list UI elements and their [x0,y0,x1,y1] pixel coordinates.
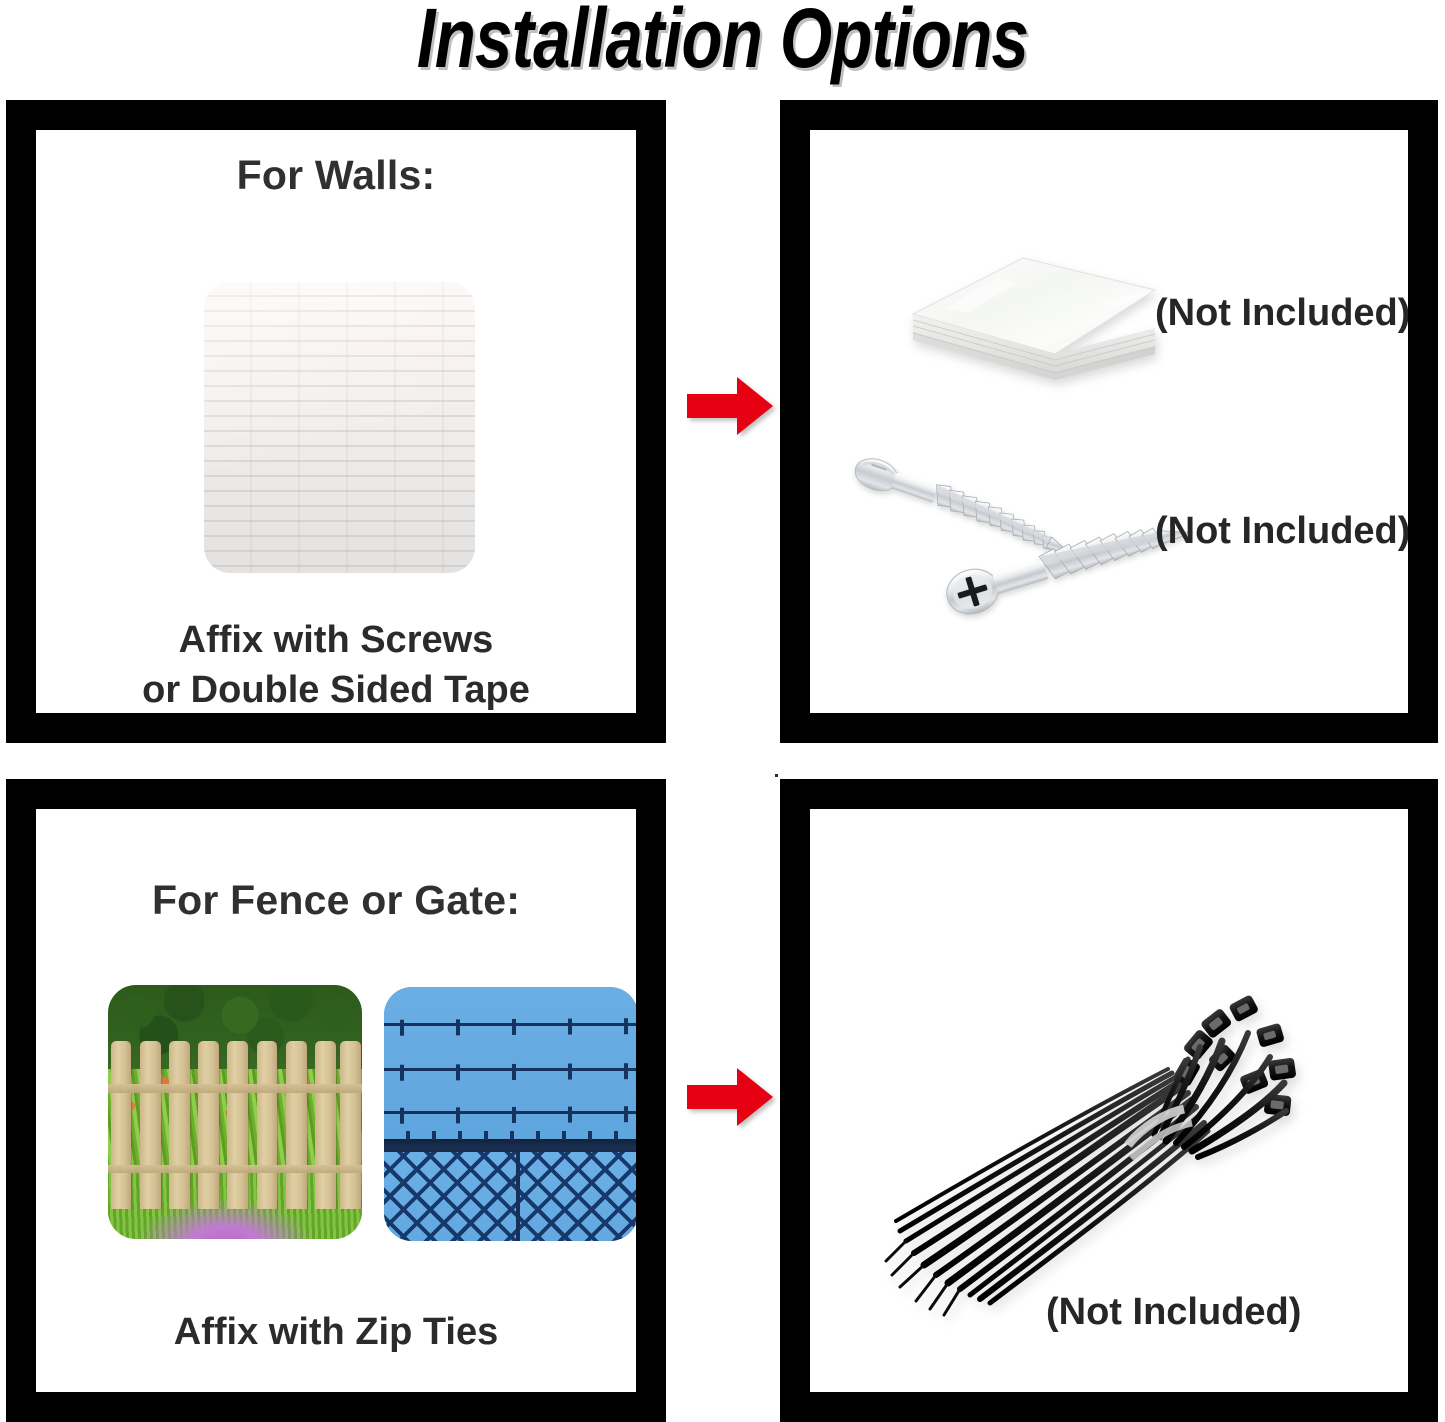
panel-fence-hardware-content: (Not Included) [810,809,1408,1392]
brick-wall-swatch-image [204,282,475,573]
panel-fence-hardware: (Not Included) [780,779,1438,1422]
double-sided-tape-stack-image [905,250,1159,412]
zip-ties-bundle-image [866,935,1326,1325]
barbed-wire-strand-1 [384,1023,636,1026]
swatch-highlight [204,282,475,573]
barbed-wire-strand-2 [384,1068,636,1071]
fence-post [516,1152,520,1241]
chain-link-fence-thumbnail [384,987,636,1241]
right-arrow-icon-top [687,377,773,435]
wooden-picket-fence-thumbnail [108,985,362,1239]
barbed-wire-strand-3 [384,1111,636,1114]
page-title: Installation Options [145,0,1301,82]
chain-fence-scene [384,987,636,1241]
panel-for-walls: For Walls: Affix with Screws or Double S… [6,100,666,743]
panel-wall-hardware: (Not Included) [780,100,1438,743]
panel-wall-hardware-content: (Not Included) [810,130,1408,713]
tape-not-included-label: (Not Included) [1155,292,1408,335]
right-arrow-icon-bottom [687,1068,773,1126]
zipties-not-included-label: (Not Included) [1046,1291,1301,1334]
panel-for-walls-content: For Walls: Affix with Screws or Double S… [36,130,636,713]
walls-caption-line-1: Affix with Screws [36,617,636,665]
for-fence-heading: For Fence or Gate: [36,877,636,924]
wood-fence-scene [108,985,362,1239]
screws-not-included-label: (Not Included) [1155,510,1408,553]
panel-for-fence-content: For Fence or Gate: [36,809,636,1392]
for-walls-heading: For Walls: [36,152,636,199]
picket-boards [108,1041,362,1209]
chain-link-mesh [384,1152,636,1241]
fence-caption: Affix with Zip Ties [36,1309,636,1357]
installation-options-infographic: Installation Options For Walls: Affix wi… [0,0,1445,1422]
image-speck-artifact [775,774,778,777]
walls-caption-line-2: or Double Sided Tape [36,667,636,713]
panel-for-fence-or-gate: For Fence or Gate: [6,779,666,1422]
